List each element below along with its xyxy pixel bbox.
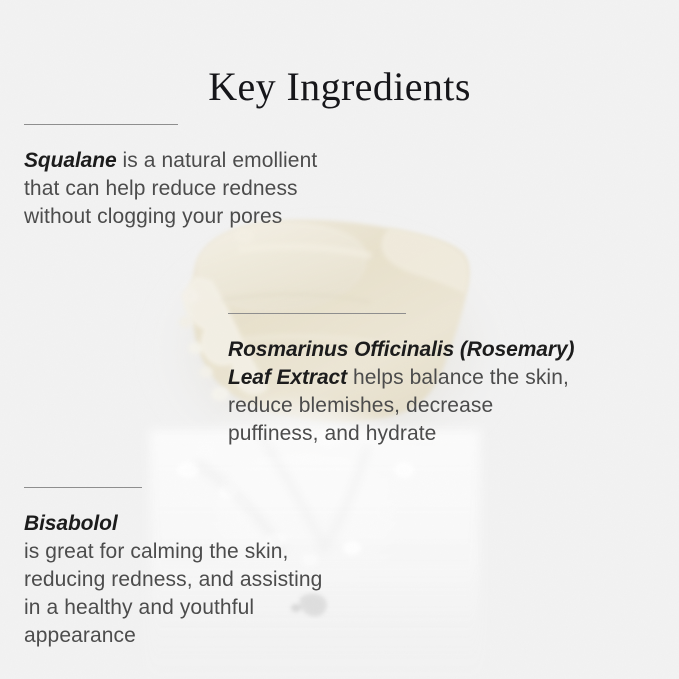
ingredient-description-bisabolol: Bisabolol is great for calming the skin,…: [24, 510, 424, 650]
page-title: Key Ingredients: [0, 65, 679, 109]
ingredient-block-rosemary: Rosmarinus Officinalis (Rosemary) Leaf E…: [228, 313, 648, 469]
ingredients-infographic: Key Ingredients Squalane is a natural em…: [0, 0, 679, 679]
ingredient-block-squalane: Squalane is a natural emollient that can…: [24, 124, 424, 252]
section-divider-squalane: [24, 124, 178, 125]
content-layer: Key Ingredients Squalane is a natural em…: [0, 0, 679, 679]
ingredient-name-bisabolol: Bisabolol: [24, 512, 118, 535]
ingredient-name-squalane: Squalane: [24, 149, 117, 172]
ingredient-description-rosemary: Rosmarinus Officinalis (Rosemary) Leaf E…: [228, 336, 648, 448]
section-divider-rosemary: [228, 313, 406, 314]
ingredient-body-bisabolol: is great for calming the skin, reducing …: [24, 540, 322, 647]
ingredient-block-bisabolol: Bisabolol is great for calming the skin,…: [24, 487, 424, 671]
ingredient-description-squalane: Squalane is a natural emollient that can…: [24, 147, 424, 231]
section-divider-bisabolol: [24, 487, 142, 488]
